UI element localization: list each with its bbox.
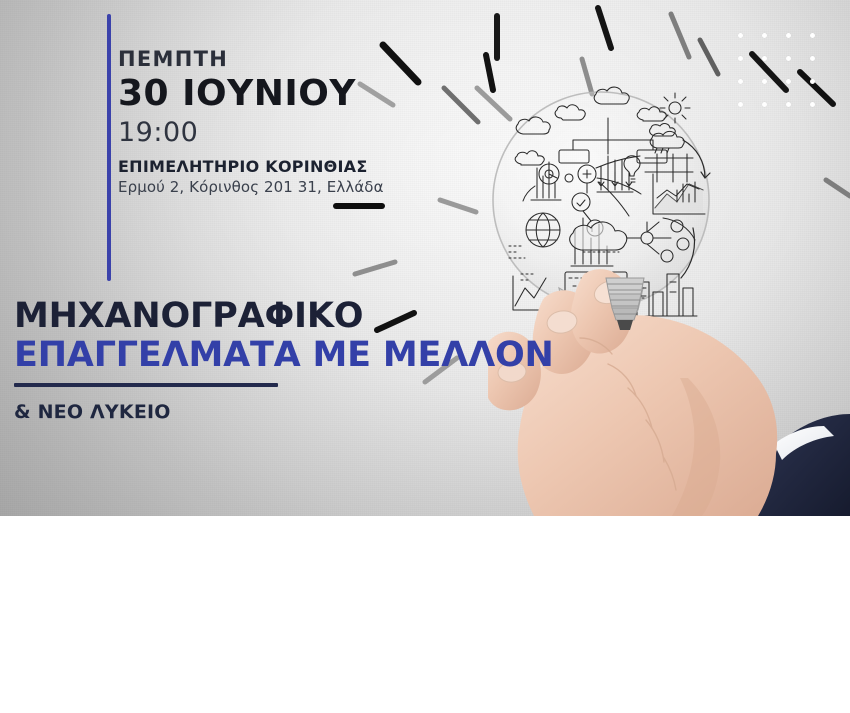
- hand-holding-bulb: [488, 268, 850, 516]
- vertical-blue-rule: [107, 14, 111, 281]
- title-line-1: ΜΗΧΑΝΟΓΡΑΦΙΚΟ: [14, 298, 534, 336]
- event-time: 19:00: [118, 117, 448, 149]
- event-poster: i: [0, 0, 850, 713]
- event-address: Ερμού 2, Κόρινθος 201 31, Ελλάδα: [118, 178, 448, 197]
- title-line-2: ΕΠΑΓΓΕΛΜΑΤΑ ΜΕ ΜΕΛΛΟΝ: [14, 337, 534, 375]
- event-date: 30 ΙΟΥΝΙΟΥ: [118, 73, 448, 115]
- title-underline: [14, 383, 278, 387]
- footer-sponsors-bar: ΔΙΟΡΓΑΝΩΣΗ ΧΟΡΗΓΟΣ ΟΜΙΛΗΤΗΣ Δρ. Κωνσταντ…: [0, 516, 850, 713]
- hero-photo-background: i: [0, 0, 850, 516]
- event-date-block: ΠΕΜΠΤΗ 30 ΙΟΥΝΙΟΥ 19:00 ΕΠΙΜΕΛΗΤΗΡΙΟ ΚΟΡ…: [118, 48, 448, 197]
- title-line-3: & ΝΕΟ ΛΥΚΕΙΟ: [14, 401, 534, 423]
- event-day-name: ΠΕΜΠΤΗ: [118, 48, 448, 71]
- event-title-block: ΜΗΧΑΝΟΓΡΑΦΙΚΟ ΕΠΑΓΓΕΛΜΑΤΑ ΜΕ ΜΕΛΛΟΝ & ΝΕ…: [14, 298, 534, 423]
- event-venue: ΕΠΙΜΕΛΗΤΗΡΙΟ ΚΟΡΙΝΘΙΑΣ: [118, 157, 448, 176]
